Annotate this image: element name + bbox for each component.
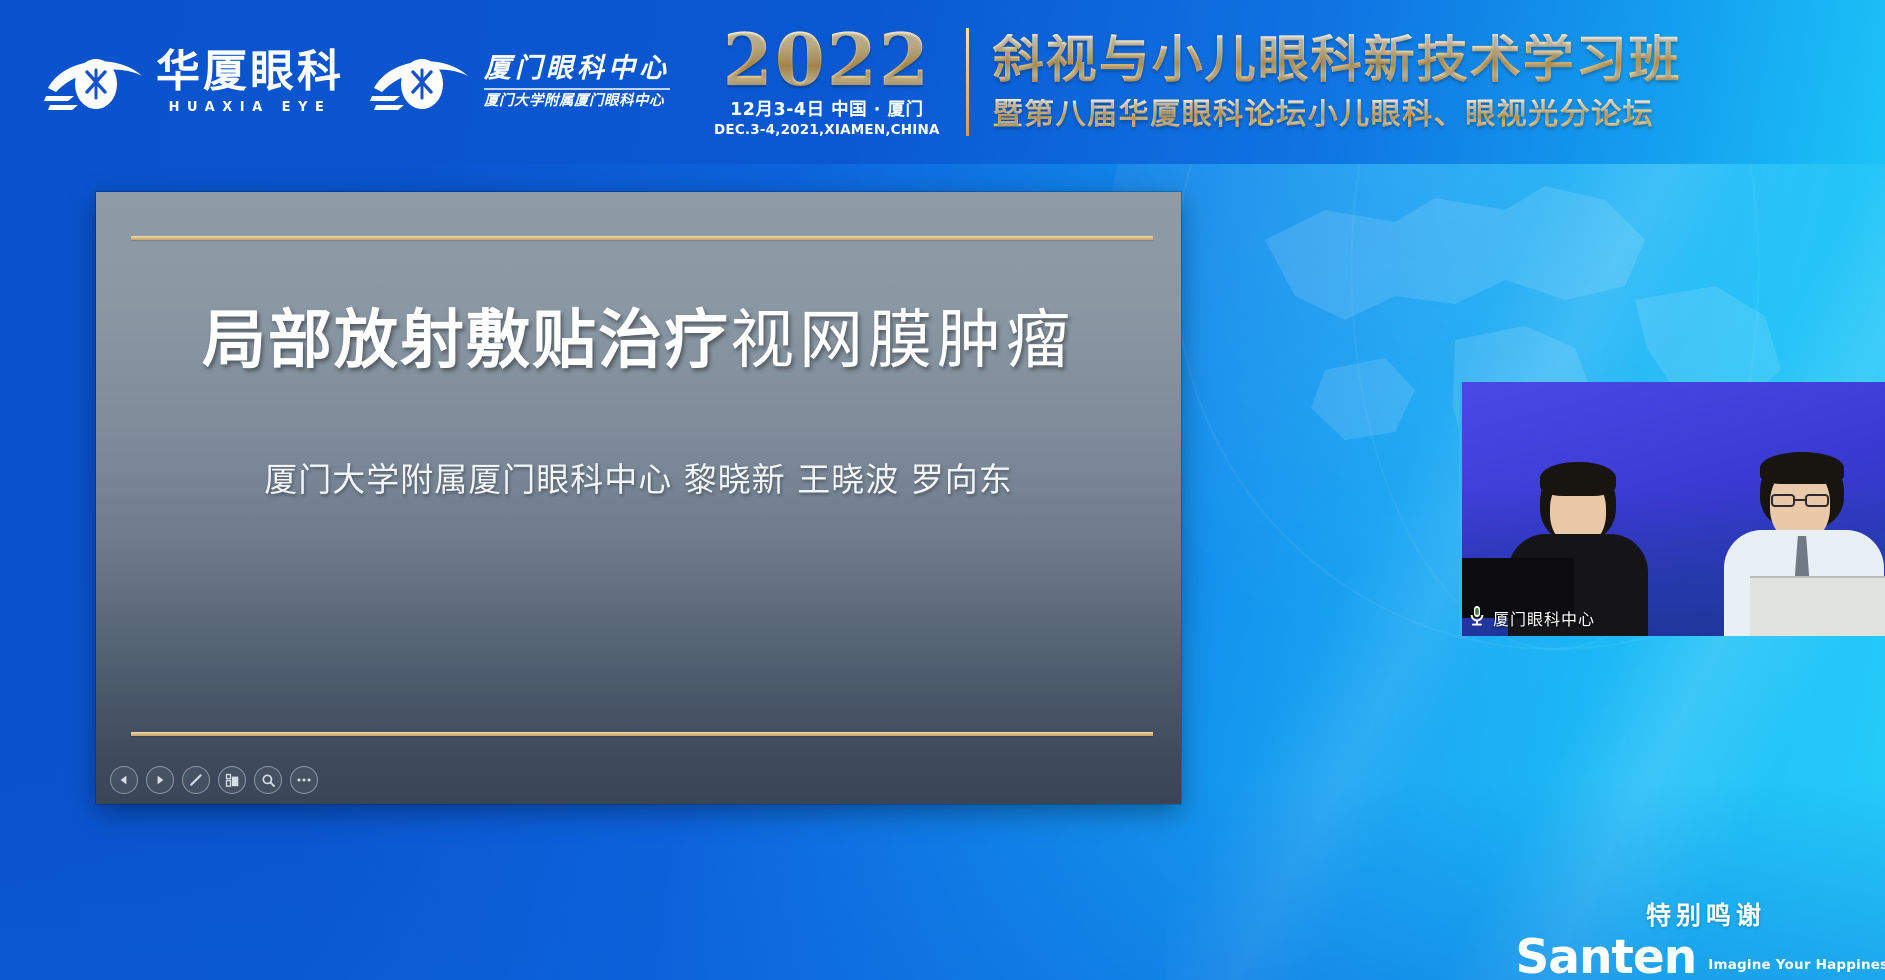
slide-toolbar — [110, 766, 318, 794]
event-title-block: 斜视与小儿眼科新技术学习班 暨第八届华厦眼科论坛小儿眼科、眼视光分论坛 — [993, 34, 1682, 130]
huaxia-eye-name-en: HUAXIA EYE — [156, 101, 344, 114]
grid-panels-icon — [225, 773, 240, 788]
huaxia-eye-name-cn: 华厦眼科 — [156, 50, 344, 94]
header-divider — [966, 28, 969, 136]
logo-divider-rule — [484, 88, 670, 90]
annotate-button[interactable] — [182, 766, 210, 794]
slide-top-rule — [131, 236, 1153, 240]
event-subtitle: 暨第八届华厦眼科论坛小儿眼科、眼视光分论坛 — [993, 99, 1682, 131]
xiamen-eye-center-name: 厦门眼科中心 — [484, 55, 670, 83]
zoom-button[interactable] — [254, 766, 282, 794]
participant-laptop — [1750, 576, 1885, 636]
speaker-video-panel[interactable]: 厦门眼科中心 — [1459, 382, 1885, 636]
event-year: 2022 — [723, 25, 931, 96]
slide-title-rest: 视网膜肿瘤 — [730, 304, 1075, 378]
video-participant-right — [1724, 450, 1884, 636]
slide-title: 局部放射敷贴治疗视网膜肿瘤 — [96, 304, 1181, 378]
sponsor-block: 特别鸣谢 Santen Imagine Your Happiness — [1545, 903, 1867, 978]
xiamen-eye-center-affiliation: 厦门大学附属厦门眼科中心 — [484, 94, 670, 109]
event-date-cn: 12月3-4日 中国 · 厦门 — [730, 100, 923, 120]
sponsor-tagline: Imagine Your Happiness — [1708, 959, 1885, 979]
participant-hair-front — [1760, 452, 1844, 484]
event-date-block: 2022 12月3-4日 中国 · 厦门 DEC.3-4,2021,XIAMEN… — [714, 25, 940, 138]
video-participant-label: 厦门眼科中心 — [1468, 604, 1595, 632]
microphone-icon — [1468, 604, 1486, 632]
next-slide-button[interactable] — [146, 766, 174, 794]
participant-glasses — [1770, 492, 1830, 506]
eye-logo-icon — [370, 48, 474, 116]
triangle-right-icon — [154, 774, 166, 786]
video-label-text: 厦门眼科中心 — [1493, 606, 1595, 630]
event-header-banner: 华厦眼科 HUAXIA EYE 厦门眼科中心 厦门大学附属厦门眼科中心 — [0, 0, 1885, 164]
eye-logo-icon — [44, 48, 148, 116]
slide-bottom-rule — [131, 732, 1153, 736]
huaxia-eye-logo: 华厦眼科 HUAXIA EYE — [44, 48, 344, 116]
pen-icon — [188, 772, 204, 788]
slide-subtitle: 厦门大学附属厦门眼科中心 黎晓新 王晓波 罗向东 — [96, 459, 1181, 502]
broadcast-screen: 华厦眼科 HUAXIA EYE 厦门眼科中心 厦门大学附属厦门眼科中心 — [0, 0, 1885, 980]
xiamen-eye-center-logo: 厦门眼科中心 厦门大学附属厦门眼科中心 — [370, 48, 670, 116]
event-title: 斜视与小儿眼科新技术学习班 — [993, 34, 1682, 88]
slide-overview-button[interactable] — [218, 766, 246, 794]
sponsor-logo: Santen Imagine Your Happiness — [1545, 938, 1867, 978]
event-date-en: DEC.3-4,2021,XIAMEN,CHINA — [714, 123, 940, 139]
participant-hair-front — [1540, 462, 1616, 496]
sponsor-name: Santen — [1515, 938, 1696, 978]
special-thanks-label: 特别鸣谢 — [1545, 903, 1867, 928]
slide-title-emphasis: 局部放射敷贴治疗 — [202, 304, 730, 378]
previous-slide-button[interactable] — [110, 766, 138, 794]
presentation-slide[interactable]: 局部放射敷贴治疗视网膜肿瘤 厦门大学附属厦门眼科中心 黎晓新 王晓波 罗向东 — [96, 192, 1181, 804]
ellipsis-icon — [296, 777, 312, 783]
magnifier-icon — [261, 773, 276, 788]
triangle-left-icon — [118, 774, 130, 786]
more-options-button[interactable] — [290, 766, 318, 794]
